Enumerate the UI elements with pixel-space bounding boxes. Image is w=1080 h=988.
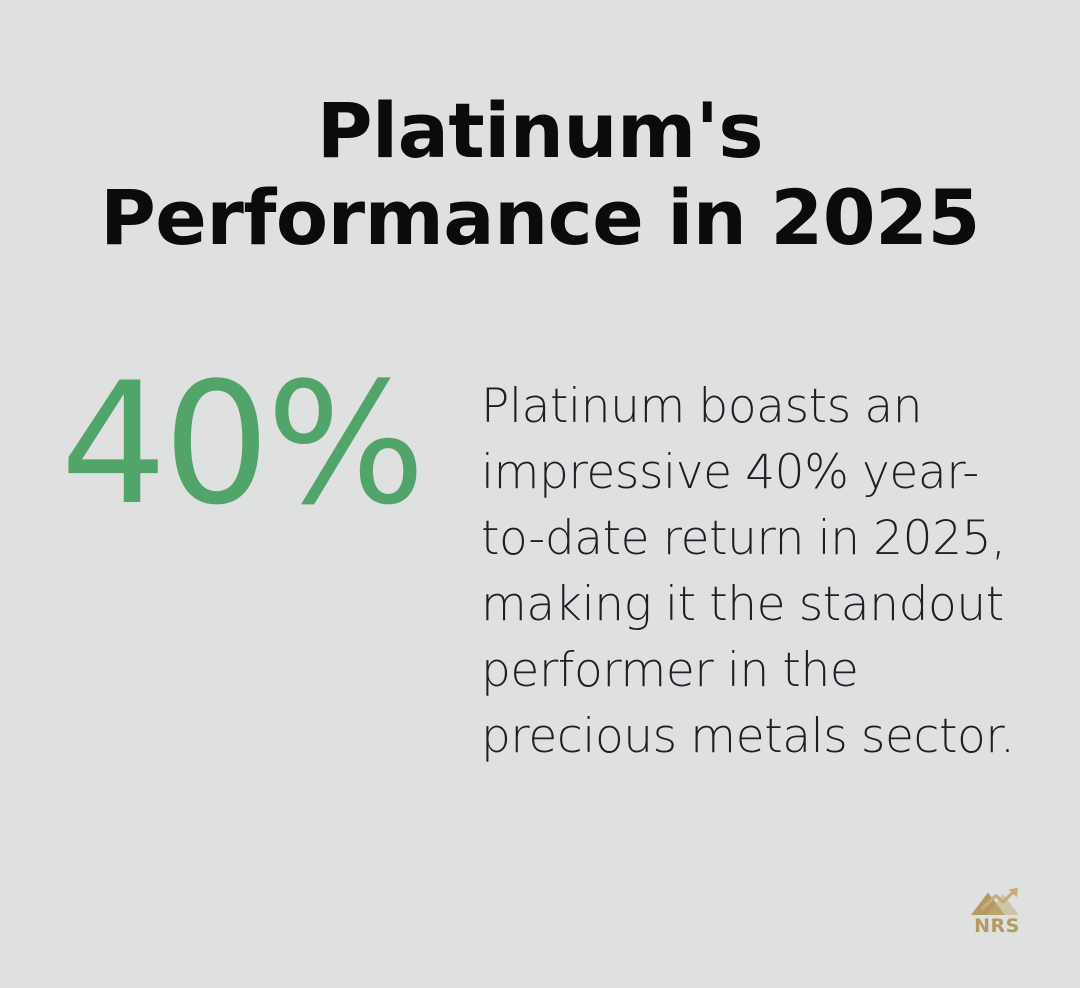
stat-description-text: Platinum boasts an impressive 40% year-t… xyxy=(481,374,1021,770)
stat-value: 40% xyxy=(60,360,421,528)
headline-text: Platinum's Performance in 2025 xyxy=(60,88,1020,261)
stat-figure: 40% xyxy=(66,360,416,540)
infographic-card: Platinum's Performance in 2025 40% Plati… xyxy=(0,0,1080,988)
page-title: Platinum's Performance in 2025 xyxy=(60,88,1020,261)
stat-description: Platinum boasts an impressive 40% year-t… xyxy=(481,374,1021,770)
brand-logo: NRS xyxy=(966,884,1028,936)
brand-logo-wordmark: NRS xyxy=(974,917,1020,936)
stat-row: 40% Platinum boasts an impressive 40% ye… xyxy=(0,360,1080,790)
mountain-arrow-icon xyxy=(969,886,1025,916)
